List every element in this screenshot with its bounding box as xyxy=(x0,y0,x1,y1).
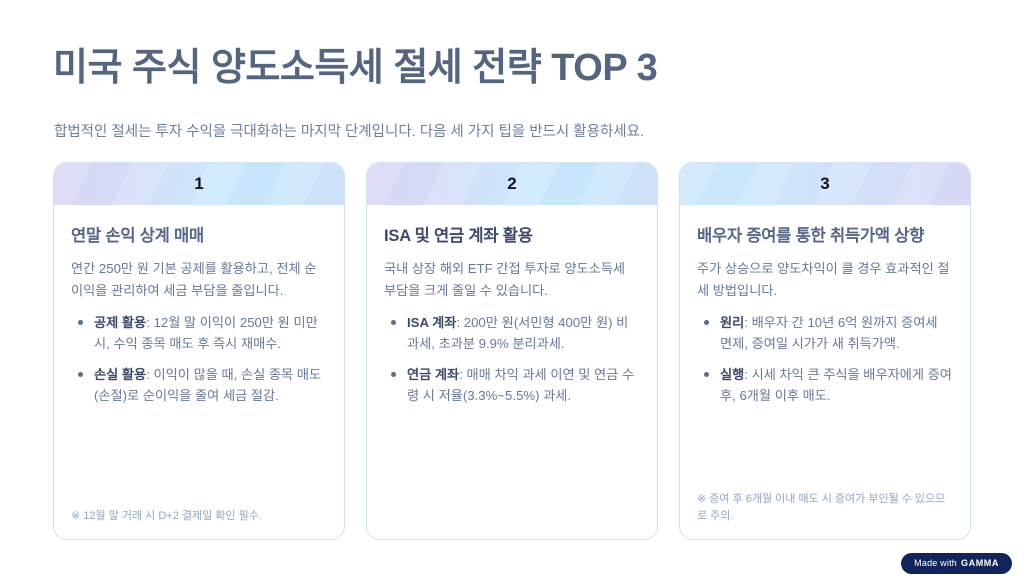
bullet-label: 실행 xyxy=(720,367,744,382)
page-subtitle: 합법적인 절세는 투자 수익을 극대화하는 마지막 단계입니다. 다음 세 가지… xyxy=(54,120,644,141)
card-1-body: 연말 손익 상계 매매 연간 250만 원 기본 공제를 활용하고, 전체 순이… xyxy=(54,205,344,539)
slide-root: 미국 주식 양도소득세 절세 전략 TOP 3 합법적인 절세는 투자 수익을 … xyxy=(0,0,1024,583)
bullet-label: 연금 계좌 xyxy=(407,367,459,382)
card-3-body: 배우자 증여를 통한 취득가액 상향 주가 상승으로 양도차익이 클 경우 효과… xyxy=(680,205,970,539)
bullet-label: 손실 활용 xyxy=(94,367,146,382)
card-3-bullet-list: 원리: 배우자 간 10년 6억 원까지 증여세 면제, 증여일 시가가 새 취… xyxy=(699,312,953,416)
made-with-gamma-badge[interactable]: Made with GAMMA xyxy=(901,553,1012,574)
card-3-note: ※ 증여 후 6개월 이내 매도 시 증여가 부인될 수 있으므로 주의. xyxy=(697,481,953,525)
page-title: 미국 주식 양도소득세 절세 전략 TOP 3 xyxy=(53,36,657,91)
bullet-label: ISA 계좌 xyxy=(407,315,456,330)
card-1-bullet-list: 공제 활용: 12월 말 이익이 250만 원 미만 시, 수익 종목 매도 후… xyxy=(73,312,327,416)
strategy-card-1[interactable]: 1 연말 손익 상계 매매 연간 250만 원 기본 공제를 활용하고, 전체 … xyxy=(53,162,345,540)
strategy-card-list: 1 연말 손익 상계 매매 연간 250만 원 기본 공제를 활용하고, 전체 … xyxy=(53,162,971,540)
bullet-text: : 배우자 간 10년 6억 원까지 증여세 면제, 증여일 시가가 새 취득가… xyxy=(720,315,938,351)
list-item: ISA 계좌: 200만 원(서민형 400만 원) 비과세, 초과분 9.9%… xyxy=(386,312,640,355)
strategy-card-2[interactable]: 2 ISA 및 연금 계좌 활용 국내 상장 해외 ETF 간접 투자로 양도소… xyxy=(366,162,658,540)
card-3-number: 3 xyxy=(820,174,829,194)
card-2-note xyxy=(384,515,640,525)
list-item: 연금 계좌: 매매 차익 과세 이연 및 연금 수령 시 저율(3.3%~5.5… xyxy=(386,364,640,407)
bullet-label: 공제 활용 xyxy=(94,315,146,330)
card-3-header: 3 xyxy=(680,163,970,205)
card-2-description: 국내 상장 해외 ETF 간접 투자로 양도소득세 부담을 크게 줄일 수 있습… xyxy=(384,258,640,301)
card-1-note: ※ 12월 말 거래 시 D+2 결제일 확인 필수. xyxy=(71,498,327,525)
strategy-card-3[interactable]: 3 배우자 증여를 통한 취득가액 상향 주가 상승으로 양도차익이 클 경우 … xyxy=(679,162,971,540)
bullet-text: : 시세 차익 큰 주식을 배우자에게 증여 후, 6개월 이후 매도. xyxy=(720,367,952,403)
card-2-header: 2 xyxy=(367,163,657,205)
bullet-label: 원리 xyxy=(720,315,744,330)
card-2-body: ISA 및 연금 계좌 활용 국내 상장 해외 ETF 간접 투자로 양도소득세… xyxy=(367,205,657,539)
card-3-description: 주가 상승으로 양도차익이 클 경우 효과적인 절세 방법입니다. xyxy=(697,258,953,301)
list-item: 공제 활용: 12월 말 이익이 250만 원 미만 시, 수익 종목 매도 후… xyxy=(73,312,327,355)
badge-prefix: Made with xyxy=(914,558,957,568)
card-1-header: 1 xyxy=(54,163,344,205)
card-3-title: 배우자 증여를 통한 취득가액 상향 xyxy=(697,225,953,247)
list-item: 실행: 시세 차익 큰 주식을 배우자에게 증여 후, 6개월 이후 매도. xyxy=(699,364,953,407)
card-2-title: ISA 및 연금 계좌 활용 xyxy=(384,225,640,247)
list-item: 손실 활용: 이익이 많을 때, 손실 종목 매도(손절)로 순이익을 줄여 세… xyxy=(73,364,327,407)
card-2-bullet-list: ISA 계좌: 200만 원(서민형 400만 원) 비과세, 초과분 9.9%… xyxy=(386,312,640,416)
card-1-description: 연간 250만 원 기본 공제를 활용하고, 전체 순이익을 관리하여 세금 부… xyxy=(71,258,327,301)
card-2-number: 2 xyxy=(507,174,516,194)
badge-brand: GAMMA xyxy=(961,558,999,568)
list-item: 원리: 배우자 간 10년 6억 원까지 증여세 면제, 증여일 시가가 새 취… xyxy=(699,312,953,355)
card-1-title: 연말 손익 상계 매매 xyxy=(71,225,327,247)
card-1-number: 1 xyxy=(194,174,203,194)
